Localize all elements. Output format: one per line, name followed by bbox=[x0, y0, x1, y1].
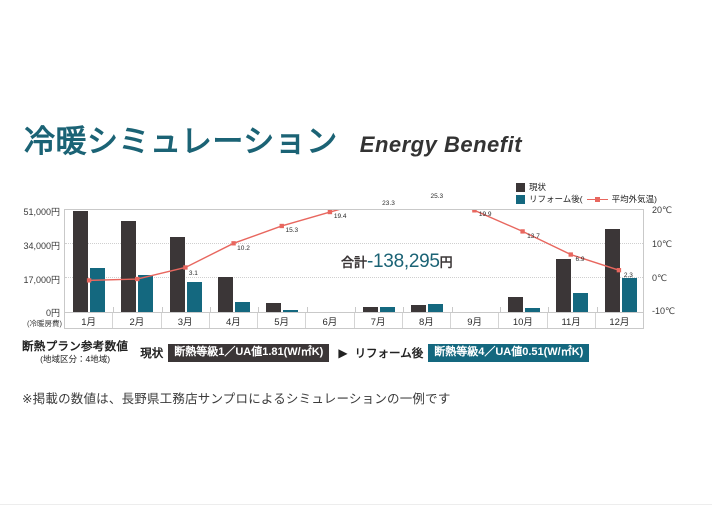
legend-label-current: 現状 bbox=[529, 181, 546, 193]
temperature-marker-9月 bbox=[472, 210, 476, 213]
temperature-label-7月: 23.3 bbox=[382, 200, 395, 207]
total-unit: 円 bbox=[440, 255, 453, 270]
temperature-label-10月: 13.7 bbox=[527, 233, 540, 240]
x-axis-tick-3: 3月 bbox=[162, 313, 210, 328]
x-axis-tick-1: 1月 bbox=[65, 313, 113, 328]
temperature-label-9月: 19.9 bbox=[479, 211, 492, 218]
total-savings-callout: 合計-138,295円 bbox=[341, 252, 453, 271]
chart-legend: 現状 リフォーム後( 平均外気温) bbox=[516, 181, 657, 206]
temperature-label-11月: 6.9 bbox=[576, 256, 585, 263]
temperature-marker-1月 bbox=[87, 278, 91, 282]
x-axis-tick-5: 5月 bbox=[258, 313, 306, 328]
y-axis-unit-label: (冷暖房費) bbox=[0, 318, 62, 329]
bottom-divider bbox=[0, 504, 712, 505]
y2-axis-tick-0c: 0℃ bbox=[652, 273, 667, 284]
legend-swatch-reform-icon bbox=[516, 195, 525, 204]
spec-current-chip: 断熱等級1／UA値1.81(W/㎡K) bbox=[168, 344, 329, 362]
spec-heading: 断熱プラン参考数値 (地域区分：4地域) bbox=[22, 340, 128, 365]
x-axis-month-labels: 1月2月3月4月5月6月7月8月9月10月11月12月 bbox=[64, 313, 644, 329]
temperature-marker-6月 bbox=[328, 210, 332, 214]
title-main: 冷暖シミュレーション bbox=[24, 126, 338, 157]
temperature-label-4月: 10.2 bbox=[237, 245, 250, 252]
x-axis-tick-7: 7月 bbox=[355, 313, 403, 328]
temperature-marker-12月 bbox=[617, 268, 621, 272]
temperature-label-5月: 15.3 bbox=[286, 227, 299, 234]
x-axis-tick-4: 4月 bbox=[210, 313, 258, 328]
x-axis-tick-12: 12月 bbox=[596, 313, 643, 328]
temperature-marker-11月 bbox=[569, 252, 573, 256]
page-title: 冷暖シミュレーション Energy Benefit bbox=[24, 126, 522, 157]
legend-label-reform: リフォーム後( bbox=[529, 193, 583, 205]
temperature-marker-3月 bbox=[183, 265, 187, 269]
insulation-spec-row: 断熱プラン参考数値 (地域区分：4地域) 現状 断熱等級1／UA値1.81(W/… bbox=[22, 340, 589, 365]
x-axis-tick-2: 2月 bbox=[113, 313, 161, 328]
temperature-marker-2月 bbox=[135, 277, 139, 281]
temperature-label-3月: 3.1 bbox=[189, 270, 198, 277]
spec-heading-line1: 断熱プラン参考数値 bbox=[22, 340, 128, 354]
x-axis-tick-8: 8月 bbox=[403, 313, 451, 328]
title-subtitle: Energy Benefit bbox=[360, 134, 522, 156]
footnote-text: ※掲載の数値は、長野県工務店サンプロによるシミュレーションの一例です bbox=[22, 388, 451, 407]
x-axis-tick-10: 10月 bbox=[499, 313, 547, 328]
x-axis-tick-9: 9月 bbox=[451, 313, 499, 328]
spec-heading-line2: (地域区分：4地域) bbox=[22, 354, 128, 365]
legend-line-marker-icon bbox=[587, 197, 608, 202]
temperature-label-6月: 19.4 bbox=[334, 213, 347, 220]
temperature-label-12月: 2.3 bbox=[624, 272, 633, 279]
legend-swatch-current-icon bbox=[516, 183, 525, 192]
spec-reform-label: リフォーム後 bbox=[355, 345, 424, 361]
slide-canvas: 冷暖シミュレーション Energy Benefit 現状 リフォーム後( 平均外… bbox=[0, 0, 712, 506]
x-axis-tick-6: 6月 bbox=[306, 313, 354, 328]
temperature-marker-4月 bbox=[231, 241, 235, 245]
arrow-right-icon: ▶ bbox=[338, 346, 347, 360]
y-axis-tick-51000: 51,000円 bbox=[0, 205, 60, 218]
legend-item-reform: リフォーム後( 平均外気温) bbox=[516, 193, 657, 205]
y-axis-tick-34000: 34,000円 bbox=[0, 239, 60, 252]
total-label: 合計 bbox=[341, 255, 367, 270]
spec-reform-chip: 断熱等級4／UA値0.51(W/㎡K) bbox=[428, 344, 589, 362]
spec-current-label: 現状 bbox=[140, 345, 163, 361]
temperature-label-8月: 25.3 bbox=[431, 193, 444, 200]
legend-item-current: 現状 bbox=[516, 181, 657, 193]
x-axis-tick-11: 11月 bbox=[548, 313, 596, 328]
y-axis-tick-17000: 17,000円 bbox=[0, 273, 60, 286]
legend-label-temperature: 平均外気温) bbox=[612, 193, 657, 205]
temperature-marker-10月 bbox=[520, 229, 524, 233]
y2-axis-tick-20c: 20℃ bbox=[652, 205, 672, 216]
y2-axis-tick-10c: 10℃ bbox=[652, 239, 672, 250]
temperature-marker-5月 bbox=[280, 224, 284, 228]
y2-axis-tick-minus10c: -10℃ bbox=[652, 306, 675, 317]
total-amount: -138,295 bbox=[367, 251, 440, 272]
